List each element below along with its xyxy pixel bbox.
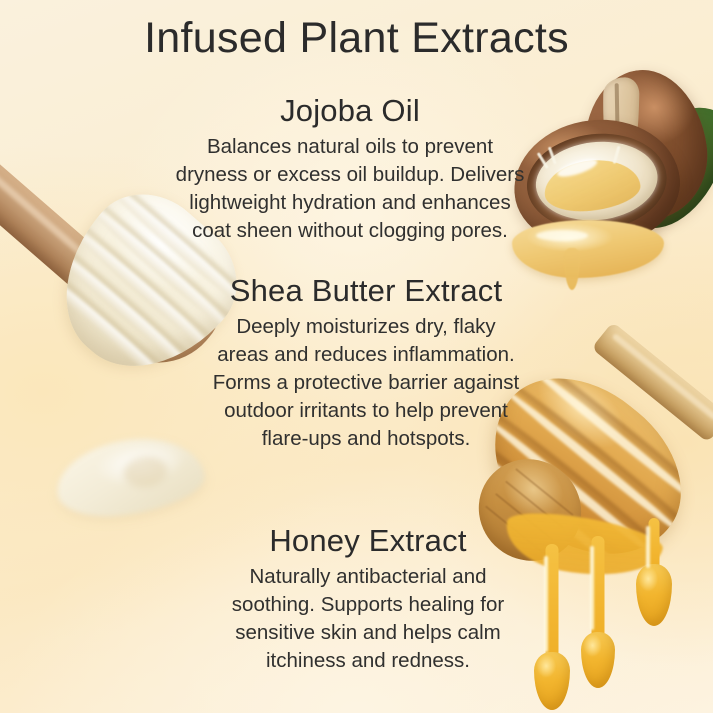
body-line: Forms a protective barrier against (156, 369, 576, 397)
infographic-canvas: Infused Plant Extracts Jojoba Oil Balanc… (0, 0, 713, 713)
body-line: areas and reduces inflammation. (156, 341, 576, 369)
body-line: sensitive skin and helps calm (168, 619, 568, 647)
body-line: dryness or excess oil buildup. Delivers (140, 161, 560, 189)
body-line: Deeply moisturizes dry, flaky (156, 313, 576, 341)
section-body-honey: Naturally antibacterial and soothing. Su… (168, 563, 568, 675)
section-body-shea: Deeply moisturizes dry, flaky areas and … (156, 313, 576, 453)
section-jojoba-oil: Jojoba Oil Balances natural oils to prev… (140, 92, 560, 245)
section-body-jojoba: Balances natural oils to prevent dryness… (140, 133, 560, 245)
section-shea-butter-extract: Shea Butter Extract Deeply moisturizes d… (156, 272, 576, 453)
body-line: Balances natural oils to prevent (140, 133, 560, 161)
body-line: lightweight hydration and enhances (140, 189, 560, 217)
section-heading-honey: Honey Extract (168, 522, 568, 559)
body-line: Naturally antibacterial and (168, 563, 568, 591)
section-honey-extract: Honey Extract Naturally antibacterial an… (168, 522, 568, 675)
body-line: coat sheen without clogging pores. (140, 217, 560, 245)
body-line: flare-ups and hotspots. (156, 425, 576, 453)
body-line: outdoor irritants to help prevent (156, 397, 576, 425)
page-title: Infused Plant Extracts (0, 14, 713, 62)
section-heading-jojoba: Jojoba Oil (140, 92, 560, 129)
body-line: soothing. Supports healing for (168, 591, 568, 619)
section-heading-shea: Shea Butter Extract (156, 272, 576, 309)
body-line: itchiness and redness. (168, 647, 568, 675)
text-content-layer: Infused Plant Extracts Jojoba Oil Balanc… (0, 0, 713, 713)
